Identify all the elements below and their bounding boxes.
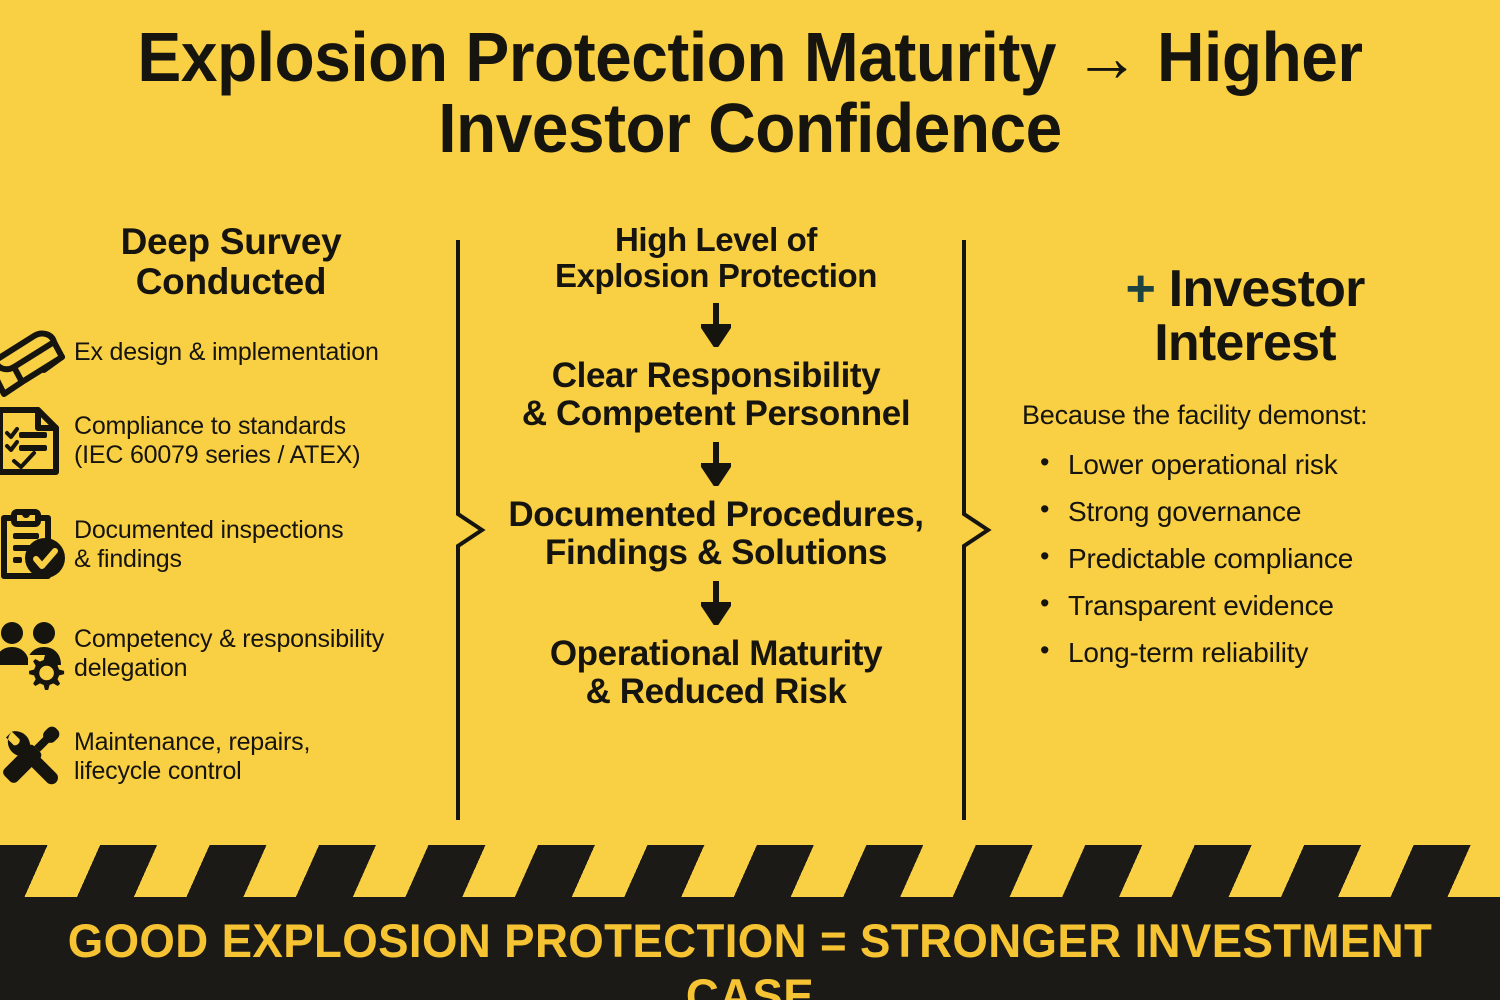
list-item: Competency & responsibility delegation bbox=[0, 617, 452, 691]
right-column-intro: Because the facility demonst: bbox=[1022, 400, 1490, 431]
list-item: Ex design & implementation bbox=[0, 330, 452, 404]
flow-step-line-1: Clear Responsibility bbox=[470, 357, 962, 396]
list-item: Lower operational risk bbox=[1034, 441, 1490, 488]
title-line-2: Investor Confidence bbox=[73, 93, 1427, 164]
middle-column: High Level of Explosion Protection Clear… bbox=[470, 222, 962, 712]
left-column-heading: Deep Survey Conducted bbox=[10, 222, 452, 302]
footer-banner: GOOD EXPLOSION PROTECTION = STRONGER INV… bbox=[0, 845, 1500, 1000]
list-item: Predictable compliance bbox=[1034, 535, 1490, 582]
page-title: Explosion Protection Maturity → Higher I… bbox=[73, 22, 1427, 165]
clipboard-check-icon bbox=[0, 508, 74, 582]
list-item: Documented inspections & findings bbox=[0, 508, 452, 582]
hazard-stripes bbox=[0, 845, 1500, 897]
list-item: Strong governance bbox=[1034, 488, 1490, 535]
flow-step: High Level of Explosion Protection bbox=[470, 222, 962, 295]
people-gear-icon bbox=[0, 617, 74, 691]
left-heading-line-1: Deep Survey bbox=[10, 222, 452, 262]
investor-heading-line-2: Interest bbox=[1000, 316, 1490, 370]
list-item-label: Compliance to standards (IEC 60079 serie… bbox=[74, 404, 360, 469]
list-item: Maintenance, repairs, lifecycle control bbox=[0, 720, 452, 794]
list-item-label: Maintenance, repairs, lifecycle control bbox=[74, 720, 310, 785]
arrow-down-icon bbox=[470, 442, 962, 486]
list-item: Transparent evidence bbox=[1034, 582, 1490, 629]
list-item-label: Ex design & implementation bbox=[74, 330, 379, 367]
flow-step-line-1: High Level of bbox=[470, 222, 962, 258]
investor-word: Investor bbox=[1169, 260, 1365, 318]
columns-area: Deep Survey Conducted bbox=[0, 222, 1500, 822]
left-heading-line-2: Conducted bbox=[10, 262, 452, 302]
list-item-label: Documented inspections & findings bbox=[74, 508, 343, 573]
flow-step-line-1: Operational Maturity bbox=[470, 635, 962, 674]
list-item: Compliance to standards (IEC 60079 serie… bbox=[0, 404, 452, 478]
right-column-heading: + Investor Interest bbox=[1000, 222, 1490, 370]
chevron-bracket-right-icon bbox=[958, 240, 994, 820]
title-line-1: Explosion Protection Maturity → Higher bbox=[137, 18, 1362, 96]
investor-benefits-list: Lower operational risk Strong governance… bbox=[1034, 441, 1490, 676]
tools-icon bbox=[0, 720, 74, 794]
flow-step: Documented Procedures, Findings & Soluti… bbox=[470, 496, 962, 573]
flow-step-line-2: & Reduced Risk bbox=[470, 673, 962, 712]
investor-heading-line-1: + Investor bbox=[1000, 262, 1490, 316]
left-column: Deep Survey Conducted bbox=[0, 222, 452, 822]
arrow-down-icon bbox=[470, 581, 962, 625]
list-item-label: Competency & responsibility delegation bbox=[74, 617, 384, 682]
flow-step-line-2: Findings & Solutions bbox=[470, 534, 962, 573]
document-checklist-icon bbox=[0, 404, 74, 478]
footer-banner-text: GOOD EXPLOSION PROTECTION = STRONGER INV… bbox=[23, 913, 1478, 1000]
blueprint-roll-icon bbox=[0, 330, 74, 404]
infographic-poster: Explosion Protection Maturity → Higher I… bbox=[0, 0, 1500, 1000]
list-item: Long-term reliability bbox=[1034, 629, 1490, 676]
flow-step-line-1: Documented Procedures, bbox=[470, 496, 962, 535]
plus-symbol: + bbox=[1125, 260, 1155, 318]
flow-step: Operational Maturity & Reduced Risk bbox=[470, 635, 962, 712]
right-column: + Investor Interest Because the facility… bbox=[1000, 222, 1490, 676]
flow-step-line-2: Explosion Protection bbox=[470, 258, 962, 294]
flow-step: Clear Responsibility & Competent Personn… bbox=[470, 357, 962, 434]
arrow-down-icon bbox=[470, 303, 962, 347]
flow-step-line-2: & Competent Personnel bbox=[470, 395, 962, 434]
